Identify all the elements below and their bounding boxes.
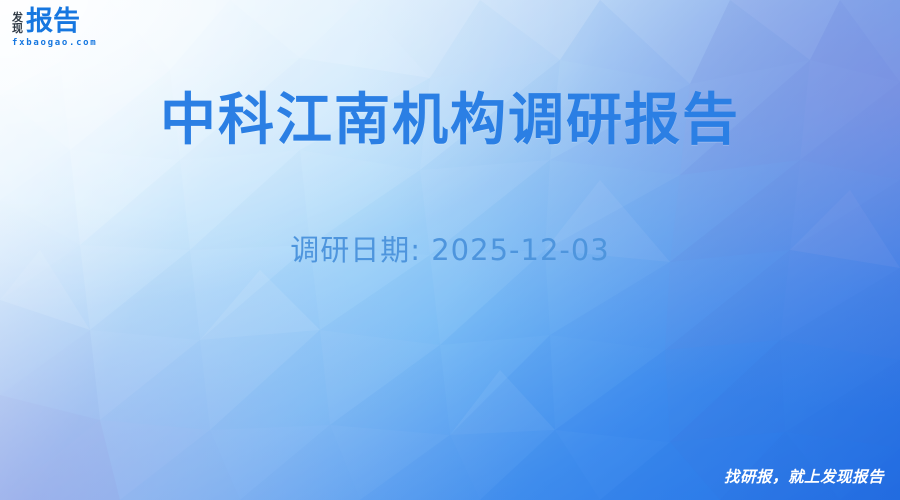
page-title: 中科江南机构调研报告 xyxy=(0,86,900,156)
brand-logo[interactable]: 发 现 报告 fxbaogao.com xyxy=(12,8,97,48)
logo-wordmark: 报告 xyxy=(26,8,80,35)
footer-slogan: 找研报，就上发现报告 xyxy=(724,467,884,487)
logo-wordmark-row: 发 现 报告 xyxy=(12,8,80,35)
report-cover-slide: 发 现 报告 fxbaogao.com 中科江南机构调研报告 调研日期: 202… xyxy=(0,0,900,500)
survey-date-subtitle: 调研日期: 2025-12-03 xyxy=(0,231,900,269)
logo-domain-text: fxbaogao.com xyxy=(12,39,97,48)
title-block: 中科江南机构调研报告 xyxy=(0,86,900,156)
logo-stacked-characters: 发 现 xyxy=(12,12,23,35)
logo-char-xian: 现 xyxy=(12,23,23,34)
